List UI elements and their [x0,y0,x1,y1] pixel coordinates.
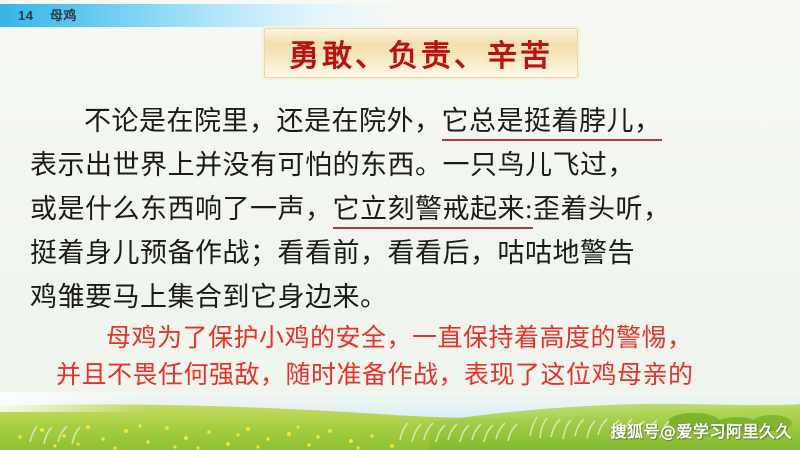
passage-line-4: 挺着身儿预备作战；看看前，看看后，咕咕地警告 [30,231,778,275]
passage-segment-plain: 鸡雏要马上集合到它身边来。 [30,282,388,312]
passage-text: 不论是在院里，还是在院外，它总是挺着脖儿， 表示出世界上并没有可怕的东西。一只鸟… [30,99,778,319]
passage-segment-plain: 挺着身儿预备作战；看看前，看看后，咕咕地警告 [30,238,635,268]
passage-line-3: 或是什么东西响了一声，它立刻警戒起来:歪着头听， [30,187,778,231]
watermark-label: 搜狐号@爱学习阿里久久 [610,418,792,442]
passage-segment-underlined: 它总是挺着脖儿， [442,106,662,141]
passage-line-2: 表示出世界上并没有可怕的东西。一只鸟儿飞过， [30,143,778,187]
commentary-line-1: 母鸡为了保护小鸡的安全，一直保持着高度的警惕， [56,320,776,357]
commentary-line-2: 并且不畏任何强敌，随时准备作战，表现了这位鸡母亲的 [56,357,776,394]
lesson-header-label: 14 母鸡 [18,5,77,24]
passage-segment-plain: 表示出世界上并没有可怕的东西。一只鸟儿飞过， [30,150,635,180]
passage-segment-plain: 不论是在院里，还是在院外， [84,106,442,136]
passage-line-5: 鸡雏要马上集合到它身边来。 [30,275,778,319]
passage-segment-underlined: 它立刻警戒起来: [333,194,534,229]
passage-segment-plain: 歪着头听， [533,194,671,224]
passage-line-1: 不论是在院里，还是在院外，它总是挺着脖儿， [30,99,778,143]
passage-segment-plain: 或是什么东西响了一声， [30,194,333,224]
title-banner: 勇敢、负责、辛苦 [262,26,580,80]
page-title: 勇敢、负责、辛苦 [289,31,553,75]
slide-canvas: 14 母鸡 勇敢、负责、辛苦 不论是在院里，还是在院外，它总是挺着脖儿， 表示出… [0,0,800,450]
